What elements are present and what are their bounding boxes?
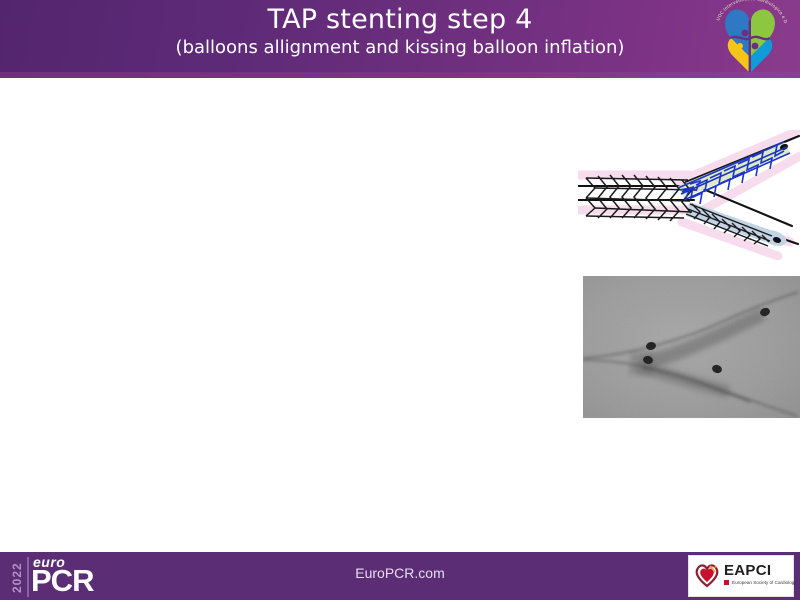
eapci-logo: EAPCI European Society of Cardiology xyxy=(688,555,794,597)
eapci-heart-icon xyxy=(694,562,720,588)
esc-mark-icon xyxy=(724,580,729,585)
page-title: TAP stenting step 4 xyxy=(0,4,800,36)
europcr-wordmark-pcr: PCR xyxy=(31,565,93,597)
footer-top-rule xyxy=(0,550,800,552)
title-block: TAP stenting step 4 (balloons allignment… xyxy=(0,4,800,60)
eapci-wordmark: EAPCI xyxy=(724,562,771,579)
slide-footer: 2022 euro PCR EuroPCR.com xyxy=(0,550,800,600)
europcr-logo: 2022 euro PCR xyxy=(8,552,108,600)
footer-year: 2022 xyxy=(10,558,24,598)
slide-body xyxy=(0,78,800,550)
fluoroscopy-kissing-balloon-image xyxy=(583,276,800,418)
puzzle-heart-icon: UOC Interventistica Cardiologica e Diagn… xyxy=(702,0,798,72)
bifurcation-stent-diagram xyxy=(578,130,800,260)
footer-website-link[interactable]: EuroPCR.com xyxy=(300,565,500,581)
page-subtitle: (balloons allignment and kissing balloon… xyxy=(0,36,800,60)
slide-header: TAP stenting step 4 (balloons allignment… xyxy=(0,0,800,72)
eapci-subtitle: European Society of Cardiology xyxy=(732,580,797,585)
logo-divider xyxy=(27,557,29,597)
